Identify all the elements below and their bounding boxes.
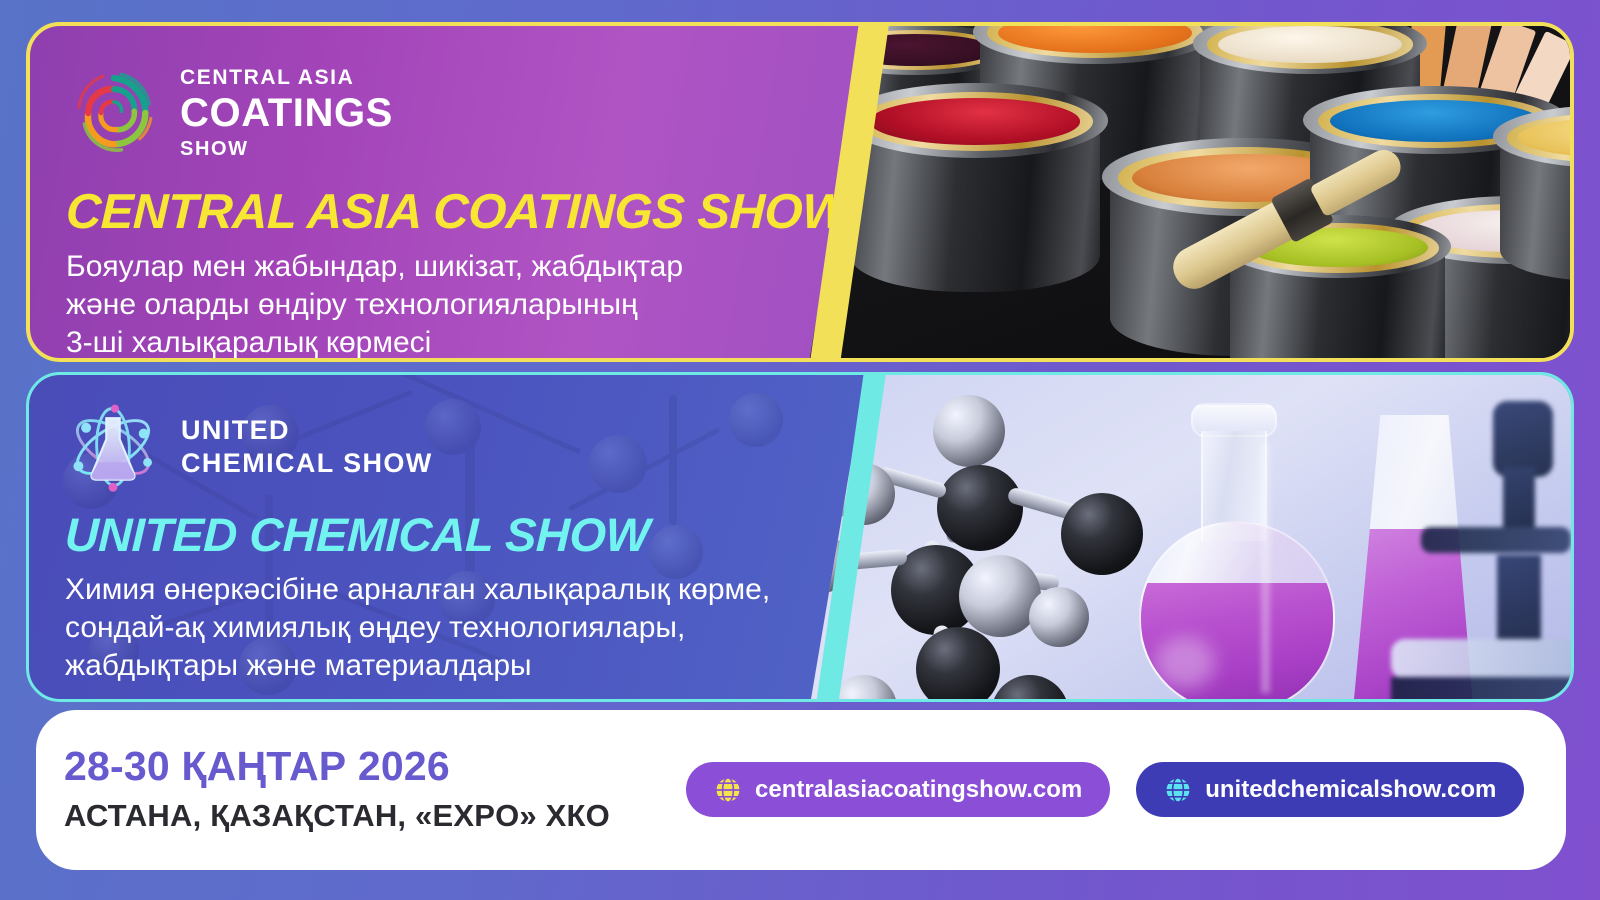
coatings-description: Бояулар мен жабындар, шикізат, жабдықтар…: [66, 248, 683, 361]
coatings-description-line-1: Бояулар мен жабындар, шикізат, жабдықтар: [66, 248, 683, 286]
event-location: АСТАНА, ҚАЗАҚСТАН, «EXPO» ХКО: [64, 800, 610, 831]
coatings-logo-line2: COATINGS: [180, 92, 393, 134]
link-centralasiacoatingshow[interactable]: centralasiacoatingshow.com: [686, 762, 1110, 817]
coatings-logo-line3: SHOW: [180, 138, 393, 160]
coatings-logo-line1: CENTRAL ASIA: [180, 66, 393, 89]
chemical-logo-line2: CHEMICAL SHOW: [181, 447, 433, 480]
chemical-logo-line1: UNITED: [181, 414, 433, 447]
coatings-description-line-2: және оларды өндіру технологияларының: [66, 286, 683, 324]
link-label: unitedchemicalshow.com: [1205, 776, 1496, 804]
chemical-headline: UNITED CHEMICAL SHOW: [64, 507, 650, 562]
colorful-spiral-icon: [68, 67, 160, 159]
chemical-banner-card: UNITED CHEMICAL SHOW UNITED CHEMICAL SHO…: [26, 372, 1574, 702]
link-label: centralasiacoatingshow.com: [755, 776, 1082, 804]
globe-icon: [714, 776, 742, 804]
chemical-photo: [811, 375, 1571, 699]
chemical-description: Химия өнеркәсібіне арналған халықаралық …: [65, 571, 770, 684]
event-datetime-block: 28-30 ҚАҢТАР 2026 АСТАНА, ҚАЗАҚСТАН, «EX…: [64, 746, 610, 831]
coatings-photo: [810, 26, 1570, 358]
coatings-description-line-3: 3-ші халықаралық көрмесі: [66, 324, 683, 362]
website-links: centralasiacoatingshow.com unitedchemica…: [686, 762, 1524, 817]
event-info-footer: 28-30 ҚАҢТАР 2026 АСТАНА, ҚАЗАҚСТАН, «EX…: [36, 710, 1566, 870]
globe-icon: [1164, 776, 1192, 804]
coatings-headline: CENTRAL ASIA COATINGS SHOW: [65, 184, 849, 240]
event-date: 28-30 ҚАҢТАР 2026: [64, 746, 610, 787]
atom-flask-icon: [65, 399, 161, 495]
chemical-logo: UNITED CHEMICAL SHOW: [65, 399, 433, 495]
coatings-logo: CENTRAL ASIA COATINGS SHOW: [68, 66, 393, 160]
chemical-description-line-2: сондай-ақ химиялық өңдеу технологиялары,: [65, 609, 770, 647]
chemical-description-line-1: Химия өнеркәсібіне арналған халықаралық …: [65, 571, 770, 609]
link-unitedchemicalshow[interactable]: unitedchemicalshow.com: [1136, 762, 1524, 817]
chemical-description-line-3: жабдықтары және материалдары: [65, 647, 770, 685]
coatings-banner-card: CENTRAL ASIA COATINGS SHOW CENTRAL ASIA …: [26, 22, 1574, 362]
